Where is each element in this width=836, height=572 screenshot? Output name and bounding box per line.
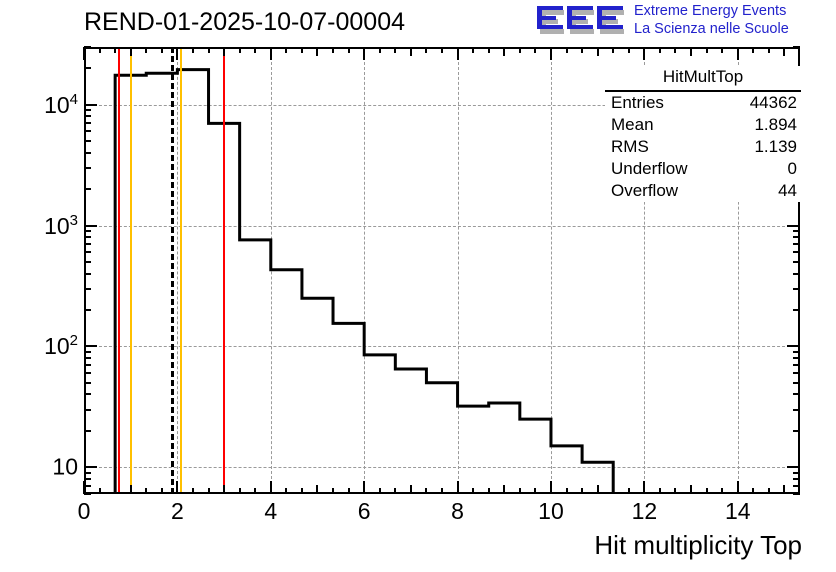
- stats-key: RMS: [611, 137, 649, 157]
- x-tick-top: [457, 47, 459, 60]
- x-tick-top: [534, 47, 536, 53]
- x-tick: [285, 488, 287, 494]
- x-tick-top: [363, 47, 365, 60]
- x-tick-label: 6: [358, 498, 371, 525]
- y-tick-label: 10: [52, 454, 78, 481]
- stats-value: 0: [788, 159, 797, 179]
- y-tick-minor-right: [793, 493, 800, 495]
- x-tick-top: [192, 47, 194, 53]
- x-tick-top: [285, 47, 287, 53]
- x-tick: [597, 485, 599, 494]
- y-tick: [84, 243, 91, 245]
- x-tick: [628, 488, 630, 494]
- x-tick: [674, 488, 676, 494]
- y-tick-minor: [84, 485, 91, 487]
- y-tick-right: [793, 393, 800, 395]
- x-tick-top: [488, 47, 490, 53]
- y-tick-right: [793, 288, 800, 290]
- x-tick-top: [99, 47, 101, 53]
- x-tick: [410, 485, 412, 494]
- y-tick-right: [793, 230, 800, 232]
- y-tick-minor: [84, 478, 91, 480]
- x-tick-top: [503, 47, 505, 56]
- y-tick-right: [793, 409, 800, 411]
- y-tick: [84, 167, 91, 169]
- x-tick-label: 12: [632, 498, 658, 525]
- x-tick-top: [394, 47, 396, 53]
- x-tick-top: [659, 47, 661, 53]
- x-tick-top: [441, 47, 443, 53]
- stats-key: Overflow: [611, 181, 678, 201]
- x-tick: [332, 488, 334, 494]
- y-tick-right: [793, 273, 800, 275]
- x-tick-top: [472, 47, 474, 53]
- x-tick: [768, 488, 770, 494]
- y-tick: [84, 130, 91, 132]
- x-tick: [550, 481, 552, 494]
- x-tick: [425, 488, 427, 494]
- x-tick: [488, 488, 490, 494]
- x-tick-top: [114, 47, 116, 53]
- x-tick-top: [348, 47, 350, 53]
- x-tick-top: [690, 47, 692, 56]
- x-tick-top: [768, 47, 770, 53]
- y-tick-label: 102: [44, 333, 78, 361]
- y-tick: [84, 430, 91, 432]
- x-tick: [161, 488, 163, 494]
- x-tick-top: [270, 47, 272, 60]
- y-tick-minor-right: [793, 472, 800, 474]
- y-tick: [84, 288, 91, 290]
- x-tick: [441, 488, 443, 494]
- x-tick-top: [737, 47, 739, 60]
- x-tick: [270, 481, 272, 494]
- y-tick: [84, 109, 91, 111]
- x-tick-top: [223, 47, 225, 56]
- x-tick-top: [145, 47, 147, 53]
- eee-logo-line2: La Scienza nelle Scuole: [634, 21, 789, 39]
- x-tick-top: [628, 47, 630, 53]
- y-tick-right: [793, 357, 800, 359]
- y-tick: [84, 236, 91, 238]
- y-tick: [84, 152, 91, 154]
- x-tick: [130, 485, 132, 494]
- stats-value: 44: [778, 181, 797, 201]
- x-tick-top: [752, 47, 754, 53]
- y-tick-right: [793, 251, 800, 253]
- y-tick: [84, 188, 91, 190]
- y-tick: [84, 364, 91, 366]
- y-tick: [84, 261, 91, 263]
- y-tick: [84, 372, 91, 374]
- stats-row: Entries44362: [605, 92, 801, 114]
- x-tick: [363, 481, 365, 494]
- x-tick-top: [301, 47, 303, 53]
- y-tick-right: [793, 261, 800, 263]
- stats-box: HitMultTop Entries44362Mean1.894RMS1.139…: [605, 66, 801, 202]
- x-tick-label: 2: [171, 498, 184, 525]
- x-tick-top: [597, 47, 599, 56]
- stats-value: 1.139: [754, 137, 797, 157]
- x-tick-top: [130, 47, 132, 56]
- x-tick-top: [425, 47, 427, 53]
- x-tick-top: [239, 47, 241, 53]
- x-tick: [643, 481, 645, 494]
- y-tick: [84, 67, 91, 69]
- eee-logo-text: Extreme Energy Events La Scienza nelle S…: [634, 3, 789, 38]
- x-tick-label: 0: [78, 498, 91, 525]
- eee-logo-icon: [536, 4, 628, 38]
- x-tick-top: [519, 47, 521, 53]
- y-tick-minor: [84, 493, 91, 495]
- y-tick: [84, 351, 91, 353]
- y-tick: [84, 225, 97, 227]
- eee-logo: Extreme Energy Events La Scienza nelle S…: [536, 2, 836, 42]
- x-tick: [208, 488, 210, 494]
- stats-row: Overflow44: [605, 180, 801, 202]
- y-tick-minor-right: [793, 485, 800, 487]
- y-tick-right: [793, 309, 800, 311]
- x-tick-top: [332, 47, 334, 53]
- y-tick-right: [793, 236, 800, 238]
- x-tick-label: 4: [264, 498, 277, 525]
- y-tick-label: 103: [44, 212, 78, 240]
- y-tick: [84, 357, 91, 359]
- y-tick: [84, 46, 91, 48]
- y-tick-right: [793, 243, 800, 245]
- y-tick-label: 104: [44, 91, 78, 119]
- stats-row: RMS1.139: [605, 136, 801, 158]
- x-tick: [192, 488, 194, 494]
- x-tick-label: 8: [451, 498, 464, 525]
- x-tick-top: [176, 47, 178, 60]
- x-tick-top: [721, 47, 723, 53]
- x-tick: [348, 488, 350, 494]
- y-tick-right: [787, 466, 800, 468]
- stats-row: Mean1.894: [605, 114, 801, 136]
- x-tick: [99, 488, 101, 494]
- x-tick: [503, 485, 505, 494]
- y-tick: [84, 273, 91, 275]
- x-tick: [145, 488, 147, 494]
- x-tick-label: 10: [538, 498, 564, 525]
- x-tick-top: [316, 47, 318, 56]
- y-tick: [84, 122, 91, 124]
- x-tick: [316, 485, 318, 494]
- stats-key: Entries: [611, 93, 664, 113]
- x-tick: [176, 481, 178, 494]
- x-tick-top: [612, 47, 614, 53]
- y-axis-labels: 10102103104: [0, 47, 78, 494]
- x-tick: [721, 488, 723, 494]
- y-tick-right: [793, 430, 800, 432]
- eee-logo-line1: Extreme Energy Events: [634, 3, 789, 21]
- x-tick-top: [550, 47, 552, 60]
- x-tick-top: [254, 47, 256, 53]
- y-tick-right: [793, 382, 800, 384]
- stats-key: Mean: [611, 115, 654, 135]
- y-tick-right: [793, 46, 800, 48]
- y-tick: [84, 382, 91, 384]
- x-tick: [752, 488, 754, 494]
- y-tick-right: [787, 345, 800, 347]
- y-tick: [84, 115, 91, 117]
- y-tick-minor-right: [793, 478, 800, 480]
- x-tick: [239, 488, 241, 494]
- x-tick-top: [379, 47, 381, 53]
- x-tick: [223, 485, 225, 494]
- x-tick: [457, 481, 459, 494]
- x-tick: [566, 488, 568, 494]
- y-tick: [84, 140, 91, 142]
- y-tick: [84, 251, 91, 253]
- x-tick: [706, 488, 708, 494]
- x-tick: [379, 488, 381, 494]
- chart-canvas: REND-01-2025-10-07-00004: [0, 0, 836, 572]
- y-tick-right: [793, 351, 800, 353]
- y-tick-minor: [84, 472, 91, 474]
- x-tick: [301, 488, 303, 494]
- stats-title: HitMultTop: [605, 66, 801, 92]
- x-tick-label: 14: [725, 498, 751, 525]
- page-title: REND-01-2025-10-07-00004: [84, 8, 405, 37]
- x-tick-top: [706, 47, 708, 53]
- stats-row: Underflow0: [605, 158, 801, 180]
- x-tick-top: [581, 47, 583, 53]
- y-tick: [84, 104, 97, 106]
- x-tick: [612, 488, 614, 494]
- x-tick: [690, 485, 692, 494]
- stats-value: 1.894: [754, 115, 797, 135]
- x-tick: [254, 488, 256, 494]
- stats-key: Underflow: [611, 159, 688, 179]
- x-tick-top: [566, 47, 568, 53]
- stats-value: 44362: [750, 93, 797, 113]
- x-tick: [659, 488, 661, 494]
- x-tick: [737, 481, 739, 494]
- x-tick-top: [208, 47, 210, 53]
- y-tick-right: [793, 372, 800, 374]
- x-tick: [783, 485, 785, 494]
- x-tick-top: [643, 47, 645, 60]
- y-tick: [84, 409, 91, 411]
- x-tick: [394, 488, 396, 494]
- x-tick-top: [161, 47, 163, 53]
- y-tick-right: [793, 364, 800, 366]
- y-tick-right: [787, 225, 800, 227]
- y-tick: [84, 309, 91, 311]
- x-tick: [581, 488, 583, 494]
- x-tick-top: [783, 47, 785, 56]
- y-tick: [84, 393, 91, 395]
- x-tick: [472, 488, 474, 494]
- y-tick: [84, 345, 97, 347]
- x-tick: [519, 488, 521, 494]
- x-tick-top: [674, 47, 676, 53]
- x-tick-top: [410, 47, 412, 56]
- y-tick: [84, 230, 91, 232]
- x-axis-title: Hit multiplicity Top: [594, 530, 802, 561]
- x-tick: [114, 488, 116, 494]
- x-tick: [534, 488, 536, 494]
- y-tick: [84, 466, 97, 468]
- x-tick-top: [83, 47, 85, 60]
